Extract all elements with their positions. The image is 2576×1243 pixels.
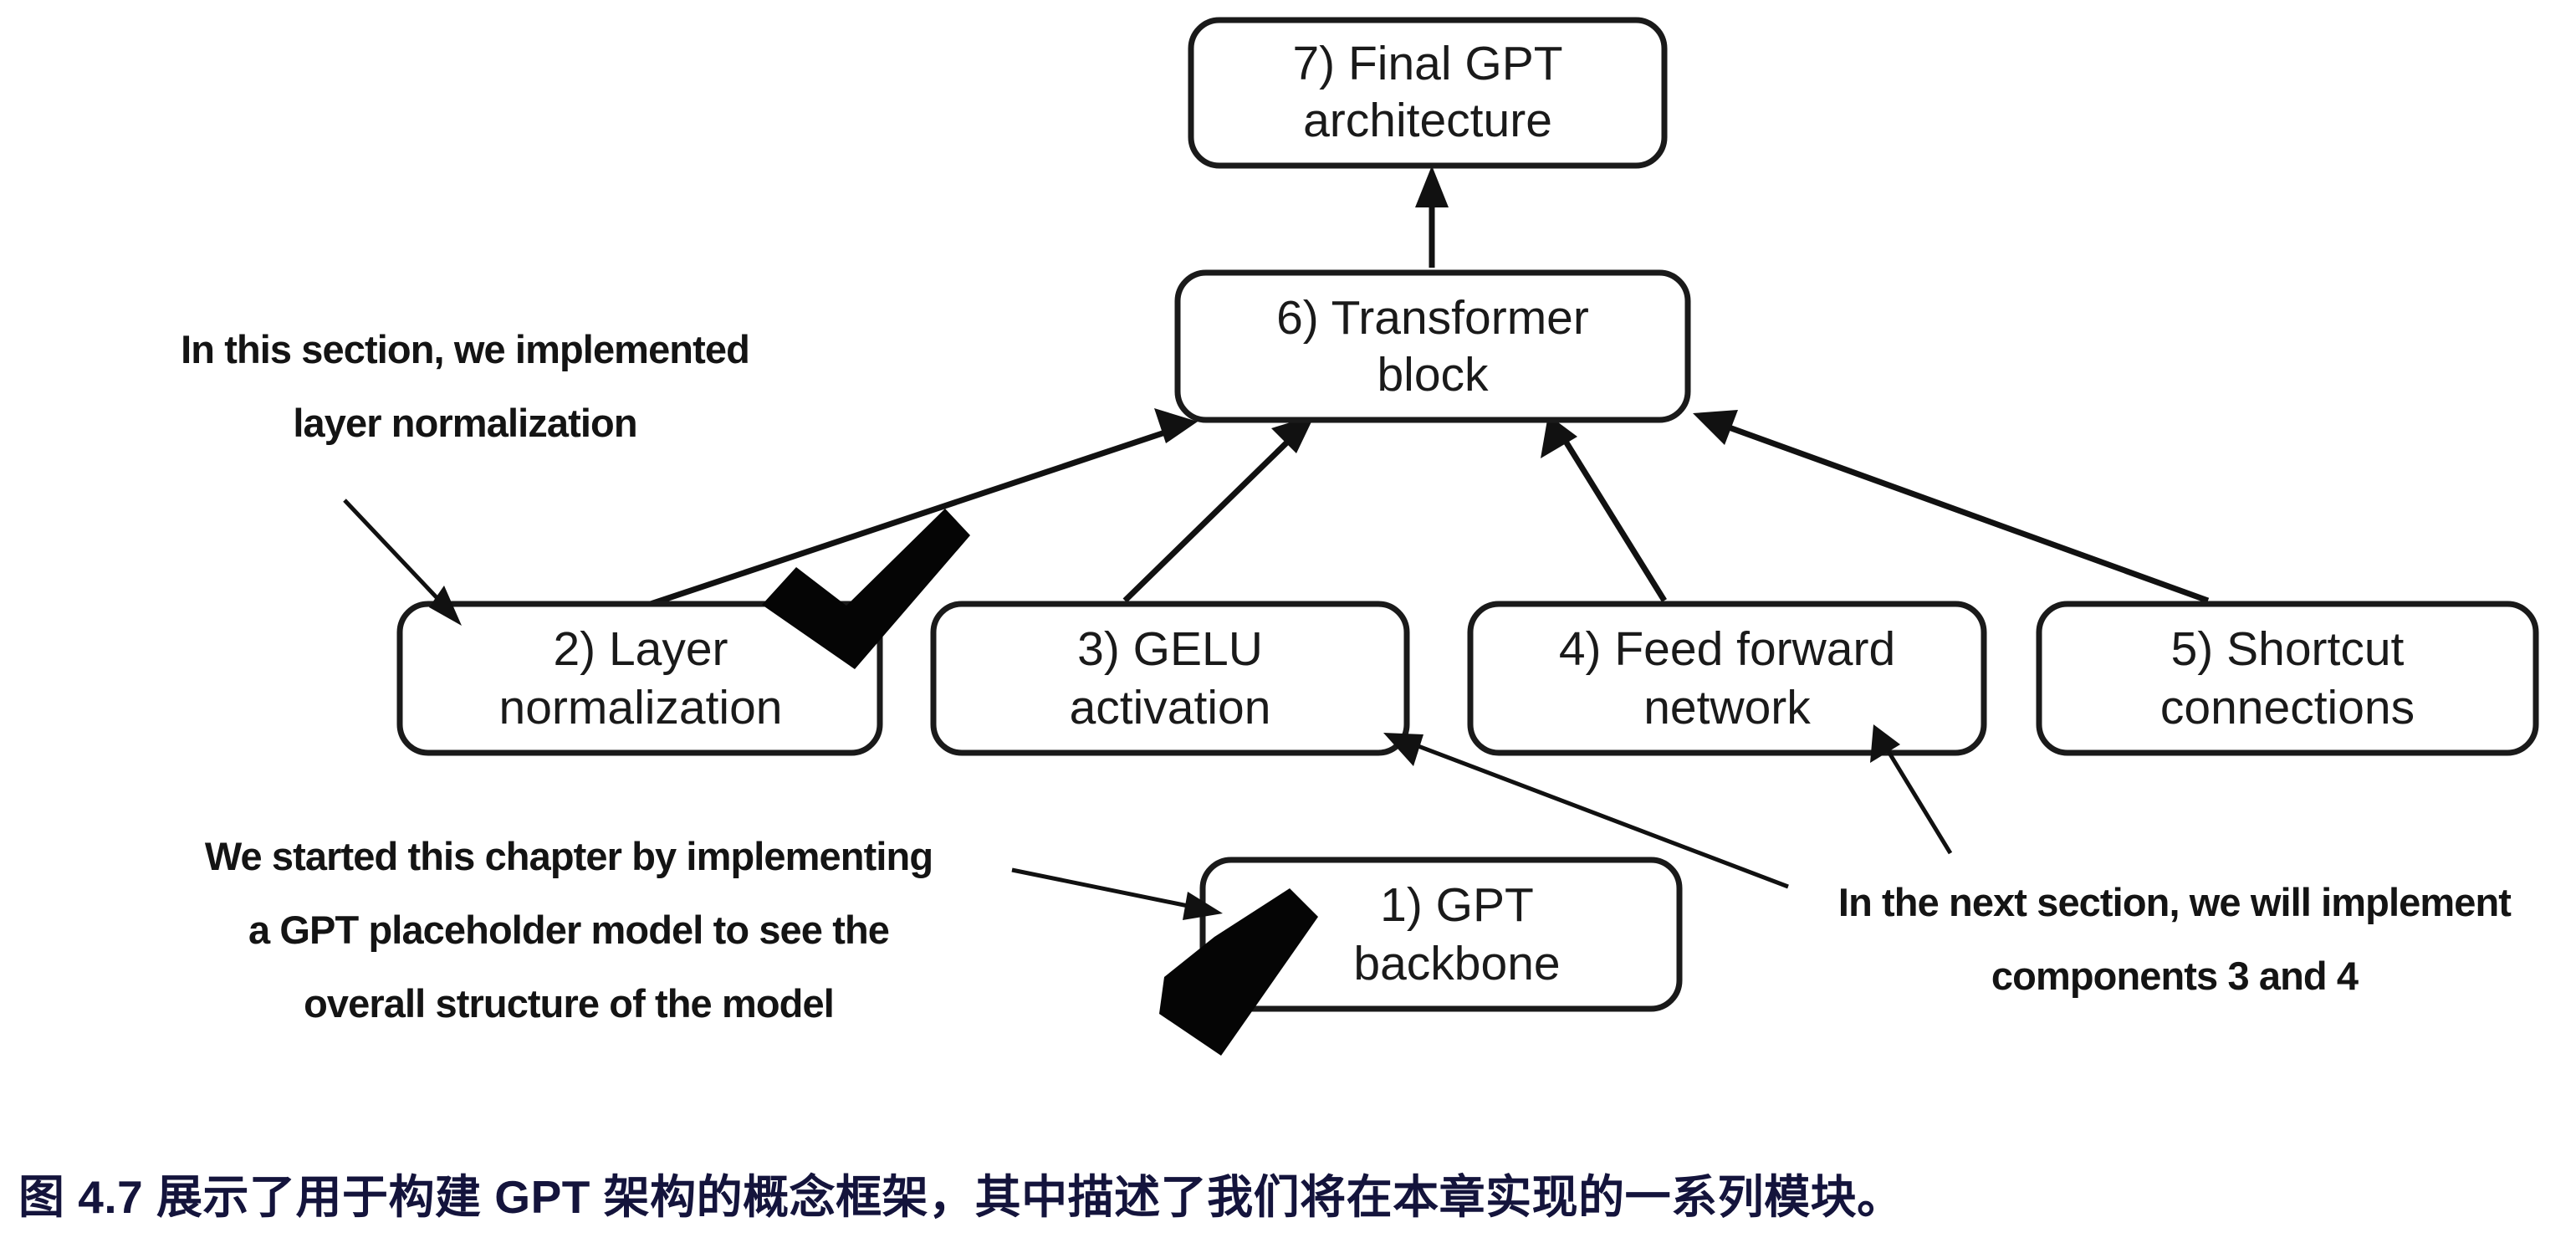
- figure-root: 7) Final GPT architecture 6) Transformer…: [0, 0, 2576, 1243]
- edge-feedforward-to-transformer: [1541, 415, 1664, 601]
- node-gelu-activation[interactable]: 3) GELU activation: [933, 604, 1407, 753]
- annotation-next-section-note: In the next section, we will implement c…: [1838, 880, 2512, 998]
- node-2-label-line2: normalization: [499, 681, 783, 734]
- node-2-label-line1: 2) Layer: [553, 622, 728, 676]
- node-transformer-block[interactable]: 6) Transformer block: [1178, 273, 1688, 420]
- node-6-label-line2: block: [1377, 348, 1489, 402]
- edge-shortcut-to-transformer: [1693, 410, 2208, 601]
- node-4-label-line1: 4) Feed forward: [1559, 622, 1895, 676]
- figure-caption: 图 4.7 展示了用于构建 GPT 架构的概念框架，其中描述了我们将在本章实现的…: [18, 1171, 1904, 1223]
- annotation-gpt-backbone-note: We started this chapter by implementing …: [205, 834, 933, 1026]
- node-3-label-line1: 3) GELU: [1077, 622, 1263, 676]
- node-3-label-line2: activation: [1070, 681, 1271, 734]
- annotation-layernorm-line-2: layer normalization: [293, 401, 636, 445]
- node-5-label-line2: connections: [2160, 681, 2415, 734]
- node-5-label-line1: 5) Shortcut: [2171, 622, 2405, 676]
- concept-diagram: 7) Final GPT architecture 6) Transformer…: [0, 0, 2576, 1243]
- edge-transformer-to-final: [1415, 166, 1449, 268]
- node-7-label-line1: 7) Final GPT: [1292, 37, 1562, 90]
- node-6-label-line1: 6) Transformer: [1276, 291, 1589, 345]
- pointer-gpt-backbone-note: [1012, 870, 1223, 920]
- annotation-next-section-line-2: components 3 and 4: [1991, 954, 2359, 998]
- node-4-label-line2: network: [1643, 681, 1811, 734]
- annotation-backbone-line-3: overall structure of the model: [304, 981, 834, 1026]
- node-1-label-line1: 1) GPT: [1380, 878, 1534, 932]
- node-7-label-line2: architecture: [1303, 94, 1552, 147]
- annotation-backbone-line-2: a GPT placeholder model to see the: [248, 908, 889, 952]
- annotation-next-section-line-1: In the next section, we will implement: [1838, 880, 2512, 924]
- annotation-layer-normalization-note: In this section, we implemented layer no…: [181, 327, 749, 445]
- annotation-layernorm-line-1: In this section, we implemented: [181, 327, 749, 371]
- node-final-gpt-architecture[interactable]: 7) Final GPT architecture: [1191, 20, 1664, 166]
- edge-gelu-to-transformer: [1125, 415, 1315, 601]
- node-1-label-line2: backbone: [1353, 937, 1560, 990]
- annotation-backbone-line-1: We started this chapter by implementing: [205, 834, 933, 878]
- pointer-layernorm-note: [345, 500, 462, 626]
- node-feed-forward-network[interactable]: 4) Feed forward network: [1470, 604, 1984, 753]
- node-shortcut-connections[interactable]: 5) Shortcut connections: [2039, 604, 2536, 753]
